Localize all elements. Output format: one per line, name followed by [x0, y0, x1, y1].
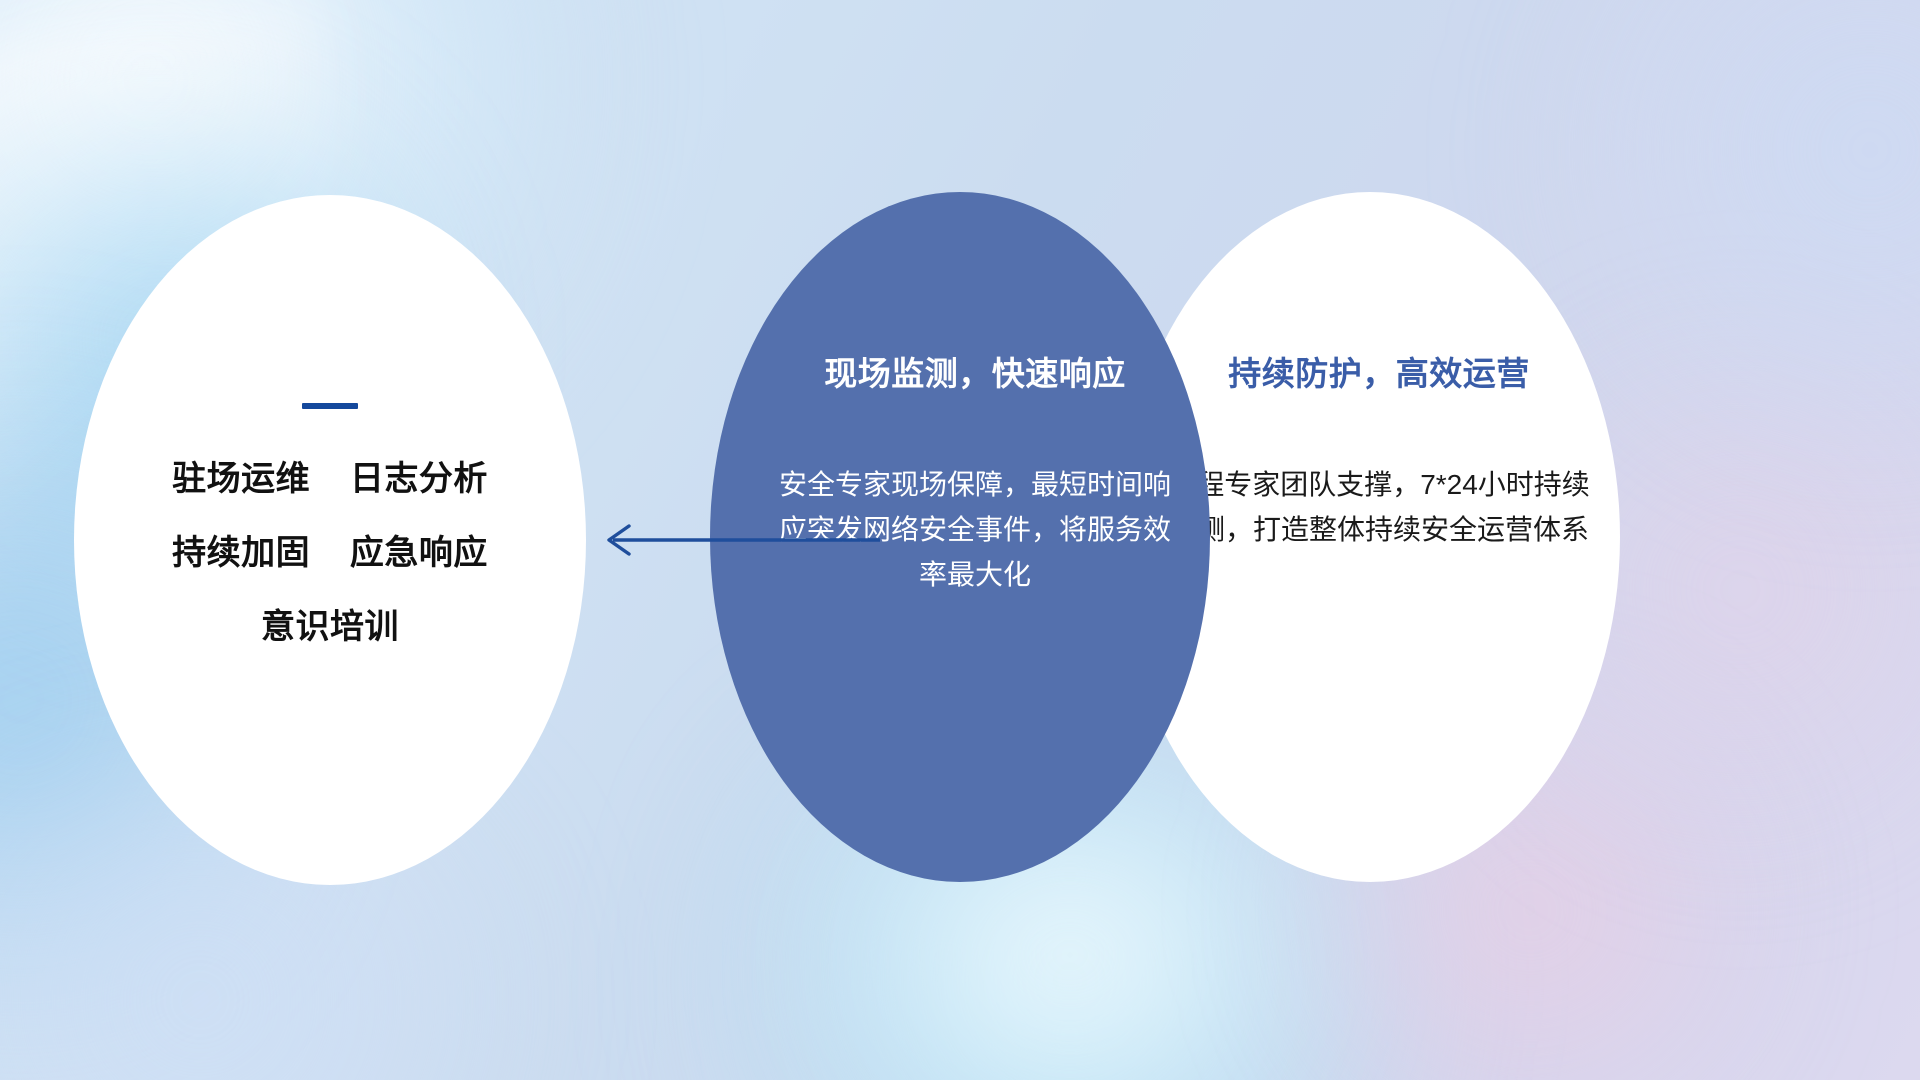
- arrow-left-icon: [595, 515, 880, 565]
- flow-arrow: [595, 515, 880, 565]
- right-card-title: 持续防护，高效运营: [1160, 347, 1598, 395]
- left-circle-card: 驻场运维 日志分析 持续加固 应急响应 意识培训: [74, 195, 586, 885]
- right-card-body: 远程专家团队支撑，7*24小时持续监测，打造整体持续安全运营体系: [1160, 463, 1598, 553]
- left-keyword-line-1: 驻场运维 日志分析: [172, 462, 488, 496]
- slide-canvas: 驻场运维 日志分析 持续加固 应急响应 意识培训 持续防护，高效运营 远程专家团…: [0, 0, 1920, 1080]
- left-keyword-list: 驻场运维 日志分析 持续加固 应急响应 意识培训: [172, 462, 488, 644]
- middle-card-title: 现场监测，快速响应: [758, 347, 1192, 395]
- right-circle-content: 持续防护，高效运营 远程专家团队支撑，7*24小时持续监测，打造整体持续安全运营…: [1160, 192, 1598, 553]
- left-keyword-line-2: 持续加固 应急响应: [172, 536, 488, 570]
- left-keyword-line-3: 意识培训: [172, 610, 488, 644]
- left-circle-content: 驻场运维 日志分析 持续加固 应急响应 意识培训: [74, 195, 586, 644]
- divider-line: [302, 403, 358, 409]
